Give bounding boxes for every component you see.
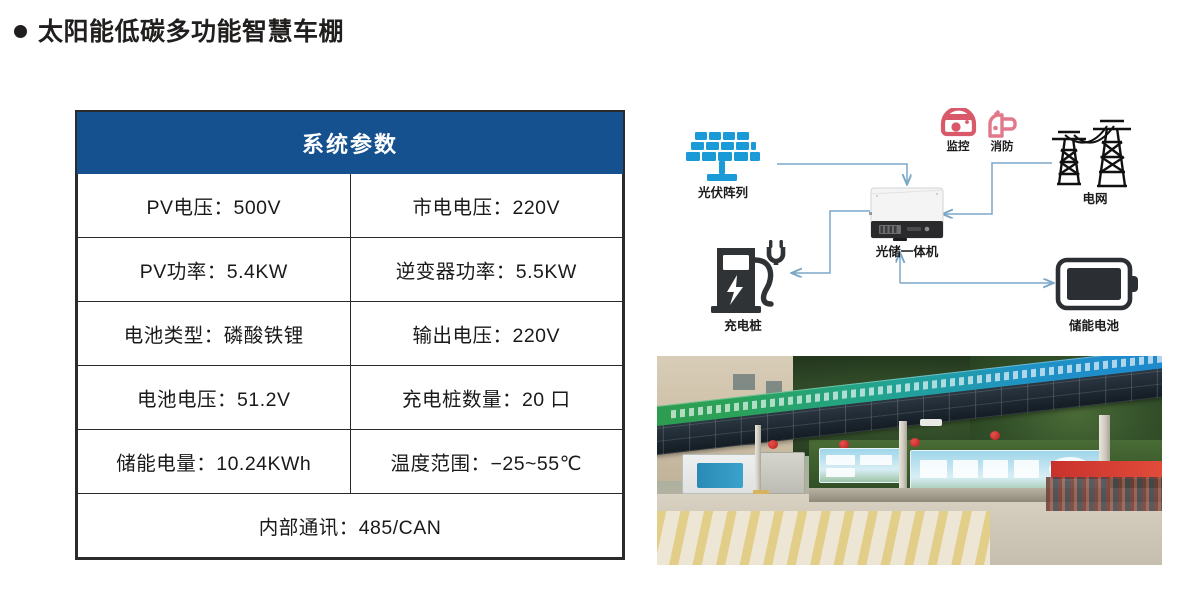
system-architecture-diagram: 光伏阵列 监控 消防 — [655, 108, 1165, 346]
cell-temp-range: 温度范围：−25~55℃ — [350, 430, 623, 494]
cell-grid-voltage: 市电电压：220V — [350, 174, 623, 238]
table-row: PV功率：5.4KW 逆变器功率：5.5KW — [78, 238, 623, 302]
table-row: 电池类型：磷酸铁锂 输出电压：220V — [78, 302, 623, 366]
photo-cabinet-mid — [758, 452, 805, 494]
cell-pv-power: PV功率：5.4KW — [78, 238, 351, 302]
photo-column — [755, 425, 761, 492]
ev-charger-icon — [711, 240, 783, 313]
flow-grid-to-inverter — [943, 163, 1052, 214]
photo-lantern — [910, 438, 920, 447]
cell-battery-voltage: 电池电压：51.2V — [78, 366, 351, 430]
page-title-text: 太阳能低碳多功能智慧车棚 — [38, 12, 344, 48]
monitoring-label: 监控 — [947, 139, 970, 153]
fire-safety-node: 消防 — [990, 111, 1015, 153]
bullet-dot-icon — [14, 25, 27, 38]
battery-node: 储能电池 — [1058, 260, 1138, 333]
cell-output-voltage: 输出电压：220V — [350, 302, 623, 366]
inverter-node: 光储一体机 — [869, 188, 943, 259]
pv-array-label: 光伏阵列 — [697, 185, 748, 200]
table-row: 内部通讯：485/CAN — [78, 494, 623, 558]
power-grid-label: 电网 — [1082, 191, 1107, 206]
solar-carport-photo — [657, 356, 1162, 565]
system-parameters-table: 系统参数 PV电压：500V 市电电压：220V PV功率：5.4KW 逆变器功… — [75, 110, 625, 560]
photo-column — [899, 421, 907, 498]
cell-inverter-power: 逆变器功率：5.5KW — [350, 238, 623, 302]
table-row: 储能电量：10.24KWh 温度范围：−25~55℃ — [78, 430, 623, 494]
photo-parking-stripes — [657, 511, 990, 565]
battery-storage-icon — [1058, 260, 1138, 308]
solar-panel-icon — [686, 132, 760, 181]
power-grid-node: 电网 — [1052, 121, 1131, 206]
cell-storage-energy: 储能电量：10.24KWh — [78, 430, 351, 494]
flow-inverter-to-charger — [792, 211, 870, 273]
hybrid-inverter-icon — [869, 188, 943, 241]
fire-safety-label: 消防 — [991, 139, 1014, 153]
cell-charger-count: 充电桩数量：20 口 — [350, 366, 623, 430]
cell-battery-type: 电池类型：磷酸铁锂 — [78, 302, 351, 366]
photo-info-board-1 — [819, 448, 902, 483]
cell-pv-voltage: PV电压：500V — [78, 174, 351, 238]
charge-pile-label: 充电桩 — [724, 318, 762, 333]
transmission-tower-icon — [1052, 121, 1131, 186]
fire-extinguisher-icon — [990, 111, 1015, 136]
pv-array-node: 光伏阵列 — [686, 132, 760, 200]
cctv-camera-icon — [943, 109, 974, 135]
table-row: 电池电压：51.2V 充电桩数量：20 口 — [78, 366, 623, 430]
photo-ceiling-camera — [920, 419, 942, 426]
flow-pv-to-inverter — [777, 164, 907, 184]
battery-label: 储能电池 — [1068, 318, 1120, 333]
charge-pile-node: 充电桩 — [711, 240, 783, 333]
photo-lantern — [768, 440, 778, 449]
cell-internal-comm: 内部通讯：485/CAN — [78, 494, 623, 558]
photo-cabinet-door — [697, 463, 742, 488]
monitoring-node: 监控 — [943, 109, 974, 154]
table-header-title: 系统参数 — [78, 113, 623, 174]
inverter-label: 光储一体机 — [875, 244, 939, 259]
photo-parked-bikes — [1046, 477, 1162, 510]
fire-extinguisher-gauge-icon — [993, 126, 998, 131]
table-row: PV电压：500V 市电电压：220V — [78, 174, 623, 238]
table-header-row: 系统参数 — [78, 113, 623, 174]
page-title: 太阳能低碳多功能智慧车棚 — [14, 12, 344, 48]
